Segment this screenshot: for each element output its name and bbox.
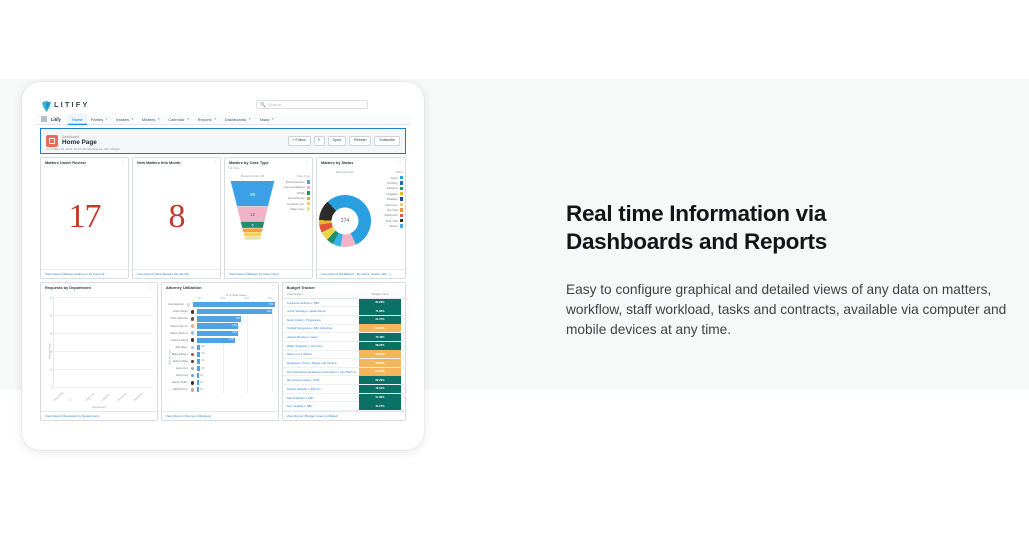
avatar (190, 373, 196, 379)
bar-row[interactable]: Darren Kelley 1% (164, 379, 275, 386)
bar-value: 2% (201, 353, 204, 355)
x-tick: 30% (268, 297, 273, 300)
x-axis-title: Department (41, 406, 157, 409)
card-footer-link[interactable]: View Report (Matters by Case Type) (225, 269, 312, 279)
legend-title: Case Type (278, 174, 310, 178)
avatar (190, 359, 196, 365)
card-footer-link[interactable]: View Report (Budget Used on Matter) (283, 411, 405, 420)
card-menu-icon[interactable]: ⋮ (150, 286, 154, 289)
status-badge: 93.86% (359, 324, 401, 332)
bar-value: 2% (201, 368, 204, 370)
table-row[interactable]: Ribeiro Inc v. Boston96.86% (283, 351, 405, 360)
legend-item: Non-Attorney (278, 196, 310, 200)
x-tick: 10% (220, 297, 225, 300)
funnel-legend: Case Type PI/GA Services Commercializing… (278, 172, 310, 268)
subscribe-button[interactable]: Subscribe (374, 136, 400, 146)
bar-row[interactable]: Gina Lund 1% (164, 372, 275, 379)
chevron-down-icon: ▼ (131, 114, 134, 125)
card-attorney-utilization[interactable]: Attorney Utilization ⋮ Attorney Name % o… (161, 282, 279, 421)
legend-item: Litigation (371, 192, 403, 196)
avatar (190, 380, 196, 386)
bar: 12% (197, 331, 238, 336)
y-tick: 10 (50, 368, 53, 371)
status-badge: 96.86% (359, 350, 401, 358)
status-badge: 82.29% (359, 376, 401, 384)
funnel-caption: Record Count: 48 (227, 174, 278, 178)
legend-item: Pending (371, 181, 403, 185)
table-row[interactable]: John Schmacker Roadway Construction v. C… (283, 368, 405, 377)
x-tick: 0% (198, 297, 201, 300)
card-header: New Matters this Month ⋮ (133, 158, 220, 166)
svg-text:5: 5 (251, 224, 253, 228)
card-footer-link[interactable]: View Report (New Matters this Month) (133, 269, 220, 279)
x-tick: 20% (244, 297, 249, 300)
legend-item: PI/GA Services (278, 180, 310, 184)
svg-text:25: 25 (250, 192, 256, 198)
bar-row[interactable]: Justin Wright 22% (164, 308, 275, 315)
donut-plot: Record Count 274 (319, 168, 371, 269)
x-tick: Operations (133, 391, 144, 401)
table-row[interactable]: Stephenson Trust v. Burger with Circle K… (283, 359, 405, 368)
card-matters-by-case-type[interactable]: Matters by Case Type All Time ⋮ Record C… (224, 157, 313, 279)
bar: 30% (193, 302, 275, 307)
status-badge: 94.29% (359, 368, 401, 376)
app-top-bar: LITIFY 🔍 Search... (36, 95, 410, 114)
avatar (190, 323, 196, 329)
avatar (190, 330, 196, 336)
column-header-budget-used[interactable]: Budget Used (359, 292, 401, 296)
search-placeholder: Search... (268, 102, 286, 107)
donut-chart: Record Count 274 Status Open Pending Def… (317, 166, 405, 269)
card-header: Budget Tracker ⋮ (283, 283, 405, 291)
status-badge: 61.07% (359, 316, 401, 324)
app-nav-bar: Litify Home Parties▼ Intakes▼ Matters▼ C… (36, 114, 410, 125)
bar (197, 366, 200, 371)
bar-label: Vikram Sharma (164, 332, 190, 335)
bar-label: Chris Valentine (164, 317, 190, 320)
legend-item: Open (371, 176, 403, 180)
card-body: Case Name ↑ Budget Used Francesca Sulliv… (283, 291, 405, 411)
donut-caption: Record Count (319, 170, 371, 174)
nav-item-intakes[interactable]: Intakes▼ (112, 114, 138, 125)
x-tick: Marketing (117, 392, 127, 402)
bar-value: 2% (201, 360, 204, 362)
card-menu-icon[interactable]: ⋮ (398, 161, 402, 164)
card-header: Requests by Department ⋮ (41, 283, 157, 291)
card-menu-icon[interactable]: ⋮ (398, 286, 402, 289)
bar-label: Aaron Fox (164, 367, 190, 370)
search-icon: 🔍 (260, 102, 266, 108)
status-badge: 70.48% (359, 333, 401, 341)
card-header: Attorney Utilization ⋮ (162, 283, 278, 291)
bar-label: Justin Wright (164, 310, 190, 313)
card-header: Matters Under Review ⋮ (41, 158, 128, 166)
section-body: Easy to configure graphical and detailed… (566, 280, 1014, 340)
bar-plot-area: 50 40 30 20 10 0 16 17 30 47 18 (53, 297, 153, 387)
bar: 12% (197, 323, 238, 328)
card-matters-under-review[interactable]: Matters Under Review ⋮ 17 View Report (M… (40, 157, 129, 279)
nav-item-matters[interactable]: Matters▼ (138, 114, 164, 125)
card-menu-icon[interactable]: ⋮ (271, 286, 275, 289)
nav-item-dashboards[interactable]: Dashboards▼ (221, 114, 256, 125)
bar: 22% (197, 309, 272, 314)
follow-button[interactable]: + Follow (288, 136, 311, 146)
card-footer-link[interactable]: View Report (Attorney Utilization) (162, 411, 278, 421)
budget-table: Case Name ↑ Budget Used Francesca Sulliv… (283, 291, 405, 411)
tablet-screen: LITIFY 🔍 Search... Litify Home Parties▼ … (36, 95, 410, 437)
legend-item: Discovery (371, 203, 403, 207)
legend-item: Post-Trial (371, 219, 403, 223)
table-row[interactable]: Francesca Sullivan v. SBC84.29% (283, 299, 405, 308)
card-header: Matters by Status ⋮ (317, 158, 405, 166)
status-badge: 51.66% (359, 394, 401, 402)
status-badge: 84.29% (359, 299, 401, 307)
tablet-device-frame: LITIFY 🔍 Search... Litify Home Parties▼ … (22, 82, 424, 450)
avatar (190, 309, 196, 315)
bar (197, 380, 199, 385)
legend-item: Commercializing (278, 185, 310, 189)
refresh-button[interactable]: Refresh (349, 136, 371, 146)
column-header-case-name[interactable]: Case Name ↑ (287, 292, 359, 296)
page-title: Home Page (62, 139, 97, 146)
x-axis-labels: Accounting IT Legal Ops Litigation Marke… (53, 386, 153, 402)
legend-title: Status (371, 170, 403, 174)
kpi-value: 8 (133, 166, 220, 269)
bar-row[interactable]: Jackie O'Dea 2% (164, 358, 275, 365)
bar-series: Lisa Hancock 30% Justin Wright 22% Chris… (164, 301, 275, 393)
bar-row[interactable]: Blake Winters 2% (164, 351, 275, 358)
avatar (190, 345, 196, 351)
bar-label: Lisa Hancock (164, 303, 186, 306)
table-header-row: Case Name ↑ Budget Used (283, 291, 405, 299)
search-input[interactable]: 🔍 Search... (256, 100, 368, 109)
bar-label: Jasmine Wood (164, 339, 190, 342)
bar (197, 352, 200, 357)
y-tick: 40 (50, 314, 53, 317)
card-matters-by-status[interactable]: Matters by Status ⋮ Record Count 274 Sta… (316, 157, 406, 279)
bar-row[interactable]: Vikram Sharma 12% (164, 330, 275, 337)
card-menu-icon[interactable]: ⋮ (121, 161, 125, 164)
bar: 13% (197, 316, 241, 321)
y-tick: 30 (50, 332, 53, 335)
dashboard-subtitle: As of May 22, 2021 10:10 AM Viewing as J… (46, 147, 120, 151)
pencil-icon[interactable]: ✎ (314, 136, 325, 146)
legend-item: Warm Grey (278, 207, 310, 211)
litify-logo-text: LITIFY (54, 100, 90, 109)
chevron-down-icon: ▼ (271, 114, 274, 125)
bar: 11% (197, 338, 235, 343)
donut-center-value: 274 (341, 218, 349, 224)
table-row[interactable]: Jade Pathalan v. ABC51.66% (283, 394, 405, 403)
app-launcher-icon[interactable] (41, 116, 47, 122)
donut-ring: 274 (319, 195, 371, 247)
bar (197, 373, 199, 378)
x-tick: Legal Ops (85, 392, 95, 402)
table-row[interactable]: Kimball Youngquist v. ABC Industries93.8… (283, 325, 405, 334)
app-name-label: Litify (51, 117, 61, 122)
legend-item: Pleading (371, 197, 403, 201)
bar-row[interactable]: Nadia Petrov 1% (164, 386, 275, 393)
bar-value: 1% (200, 389, 203, 391)
table-row[interactable]: Walter Singleton v. John Doe68.23% (283, 342, 405, 351)
status-badge: 44.07% (359, 402, 401, 410)
table-row[interactable]: Horacio Mendez v. Geico70.48% (283, 333, 405, 342)
legend-item: Contracts, Inc. (278, 202, 310, 206)
avatar (190, 352, 196, 358)
card-footer-link[interactable]: View Report (Matters waiting to be opene… (41, 269, 128, 279)
dashboard-grid-row-2: Requests by Department ⋮ Record Count 50… (40, 282, 406, 421)
table-row[interactable]: Ray Antonio Lewis v. CMS82.29% (283, 376, 405, 385)
legend-item: Deferred (371, 186, 403, 190)
section-copy: Real time Information via Dashboards and… (566, 200, 1016, 340)
bar-row[interactable]: Lisa Hancock 30% (164, 301, 275, 308)
bar-value: 1% (200, 382, 203, 384)
status-badge: 71.68% (359, 307, 401, 315)
bar-label: Jackie O'Dea (164, 360, 190, 363)
dashboard-grid-row-1: Matters Under Review ⋮ 17 View Report (M… (40, 157, 406, 279)
card-footer-link[interactable]: View Report (All Matters - By Client, St… (317, 269, 405, 279)
nav-item-tasks[interactable]: Tasks▼ (255, 114, 278, 125)
avatar (190, 337, 196, 343)
bar-label: Blake Winters (164, 353, 190, 356)
card-menu-icon[interactable]: ⋮ (305, 161, 309, 164)
bar-series: 16 17 30 47 18 13 (56, 297, 151, 387)
bar (197, 359, 200, 364)
card-body: Attorney Name % of Total Cases 0% 10% 20… (162, 291, 278, 411)
bar-row[interactable]: Maxine De Luz 12% (164, 322, 275, 329)
avatar (190, 387, 196, 393)
card-requests-by-department[interactable]: Requests by Department ⋮ Record Count 50… (40, 282, 158, 421)
card-budget-tracker[interactable]: Budget Tracker ⋮ Case Name ↑ Budget Used… (282, 282, 406, 421)
card-body: 8 (133, 166, 220, 269)
legend-item: OSHA (278, 191, 310, 195)
card-body: Record Count 274 Status Open Pending Def… (317, 166, 405, 269)
card-body: 17 (41, 166, 128, 269)
dashboard-icon (46, 135, 58, 147)
card-title-block: Matters by Case Type All Time (229, 161, 269, 170)
table-row[interactable]: Patricia Vasquez v. Pilot Co.72.61% (283, 385, 405, 394)
litify-logo-mark (42, 99, 51, 110)
bar (197, 387, 199, 392)
avatar (190, 366, 196, 372)
x-axis-ticks: 0% 10% 20% 30% (198, 297, 275, 300)
litify-logo: LITIFY (42, 99, 90, 110)
donut-legend: Status Open Pending Deferred Litigation … (371, 168, 403, 269)
kpi-value: 17 (41, 166, 128, 269)
legend-item: Pre-Trial (371, 208, 403, 212)
legend-item: Closed (371, 224, 403, 228)
nav-item-home[interactable]: Home (68, 114, 87, 125)
funnel-chart: Record Count: 48 25 12 5 (225, 170, 312, 268)
bar-row[interactable]: Aaron Fox 2% (164, 365, 275, 372)
x-tick: Litigation (101, 393, 110, 402)
nav-item-reports[interactable]: Reports▼ (194, 114, 221, 125)
y-tick: 20 (50, 350, 53, 353)
funnel-plot: Record Count: 48 25 12 5 (227, 172, 278, 268)
legend-item: Settlement (371, 213, 403, 217)
nav-item-parties[interactable]: Parties▼ (87, 114, 112, 125)
card-new-matters-this-month[interactable]: New Matters this Month ⋮ 8 View Report (… (132, 157, 221, 279)
card-title: Matters by Case Type (229, 161, 269, 166)
nav-item-calendar[interactable]: Calendar▼ (164, 114, 193, 125)
status-badge: 98.86% (359, 359, 401, 367)
table-row[interactable]: Jeon Tsukihiji v. SBC44.07% (283, 402, 405, 411)
bar-row[interactable]: Chris Valentine 13% (164, 315, 275, 322)
status-badge: 72.61% (359, 385, 401, 393)
dashboard-title-block: Dashboard Home Page (62, 135, 97, 146)
chevron-down-icon: ▼ (248, 114, 251, 125)
bar-value: 2% (201, 346, 204, 348)
card-body: Record Count 50 40 30 20 10 0 16 17 30 (41, 291, 157, 411)
svg-text:12: 12 (250, 213, 256, 218)
bar-row[interactable]: Ellis Nkem 2% (164, 344, 275, 351)
chevron-down-icon: ▼ (105, 114, 108, 125)
x-axis-title: % of Total Cases (198, 293, 275, 297)
avatar (186, 302, 192, 308)
open-button[interactable]: Open (328, 136, 347, 146)
bar-label: Ellis Nkem (164, 346, 190, 349)
table-row[interactable]: Lamar Santiago v. Apate Farms71.68% (283, 307, 405, 316)
card-menu-icon[interactable]: ⋮ (213, 161, 217, 164)
y-tick: 50 (50, 296, 53, 299)
avatar (190, 316, 196, 322)
bar (197, 345, 200, 350)
bar-label: Maxine De Luz (164, 325, 190, 328)
section-heading: Real time Information via Dashboards and… (566, 200, 906, 257)
status-badge: 68.23% (359, 342, 401, 350)
x-tick: Accounting (53, 391, 64, 402)
bar-label: Darren Kelley (164, 381, 190, 384)
bar-label: Gina Lund (164, 374, 190, 377)
x-tick: IT (69, 398, 73, 402)
table-row[interactable]: Sandy Nolan v. Progressive61.07% (283, 316, 405, 325)
chevron-down-icon: ▼ (187, 114, 190, 125)
bar-label: Nadia Petrov (164, 388, 190, 391)
card-header: Matters by Case Type All Time ⋮ (225, 158, 312, 170)
chevron-down-icon: ▼ (214, 114, 217, 125)
dashboard-header: Dashboard Home Page As of May 22, 2021 1… (40, 128, 406, 154)
bar-chart-attorney: Attorney Name % of Total Cases 0% 10% 20… (162, 291, 278, 411)
bar-value: 1% (200, 375, 203, 377)
bar-chart-requests: Record Count 50 40 30 20 10 0 16 17 30 (41, 291, 157, 411)
card-footer-link[interactable]: View Report (Requests by Department) (41, 411, 157, 421)
chevron-down-icon: ▼ (157, 114, 160, 125)
bar-row[interactable]: Jasmine Wood 11% (164, 337, 275, 344)
card-body: Record Count: 48 25 12 5 (225, 170, 312, 268)
dashboard-actions: + Follow ✎ Open Refresh Subscribe (288, 136, 400, 146)
